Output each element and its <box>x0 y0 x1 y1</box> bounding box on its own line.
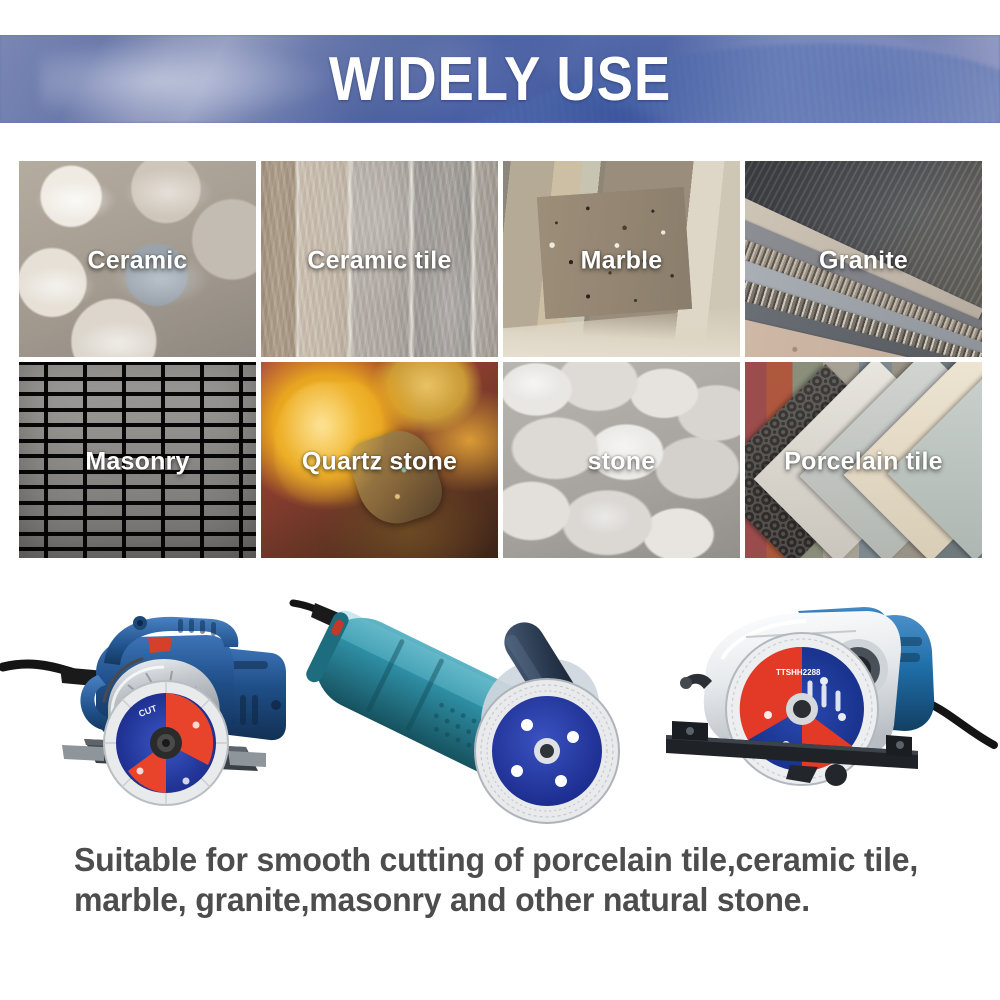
tool-tile-marble-cutter: CUT <box>0 575 330 830</box>
material-label-stone: stone <box>503 447 740 476</box>
material-tile-stone: stone <box>503 362 740 558</box>
svg-text:TTSHH2288: TTSHH2288 <box>776 668 821 677</box>
material-tile-granite: Granite <box>745 161 982 357</box>
materials-grid: Ceramic Ceramic tile Marble Granite <box>19 161 982 558</box>
material-label-porcelain-tile: Porcelain tile <box>745 447 982 476</box>
material-tile-masonry: Masonry <box>19 362 256 558</box>
page-title: WIDELY USE <box>60 35 940 123</box>
material-tile-porcelain-tile: Porcelain tile <box>745 362 982 558</box>
caption-line-2: marble, granite,masonry and other natura… <box>74 880 928 920</box>
material-label-marble: Marble <box>503 246 740 275</box>
tool-circular-saw: TTSHH2288 <box>650 585 1000 830</box>
caption-line-1: Suitable for smooth cutting of porcelain… <box>74 840 928 880</box>
material-label-masonry: Masonry <box>19 447 256 476</box>
header-banner: WIDELY USE <box>0 35 1000 123</box>
caption-text: Suitable for smooth cutting of porcelain… <box>74 840 928 920</box>
material-label-ceramic-tile: Ceramic tile <box>261 246 498 275</box>
material-label-ceramic: Ceramic <box>19 246 256 275</box>
material-tile-marble: Marble <box>503 161 740 357</box>
tool-angle-grinder <box>285 575 645 830</box>
material-label-quartz-stone: Quartz stone <box>261 447 498 476</box>
material-tile-ceramic-tile: Ceramic tile <box>261 161 498 357</box>
material-tile-ceramic: Ceramic <box>19 161 256 357</box>
material-tile-quartz-stone: Quartz stone <box>261 362 498 558</box>
infographic-page: WIDELY USE Ceramic Ceramic tile Marble <box>0 0 1000 1000</box>
material-label-granite: Granite <box>745 246 982 275</box>
tools-row: CUT <box>0 575 1000 830</box>
